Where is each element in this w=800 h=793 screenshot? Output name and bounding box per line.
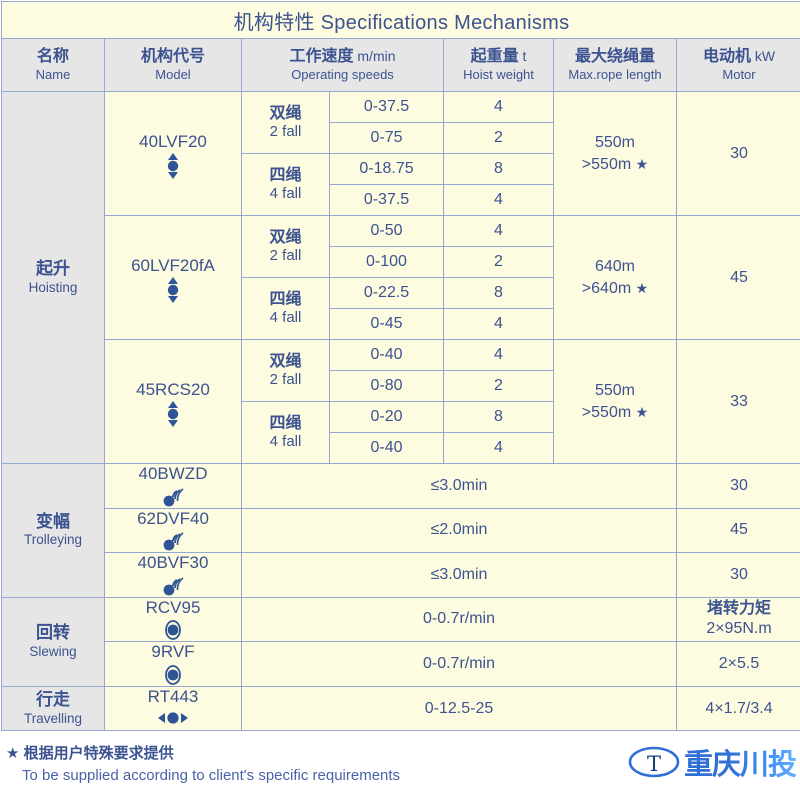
rope-length-cell: 550m>550m ★ [554, 340, 677, 464]
speed-cell: 0-80 [330, 371, 444, 402]
col-header-max-rope-length: 最大绕绳量Max.rope length [554, 39, 677, 92]
speed-cell: 0-40 [330, 433, 444, 464]
hoist-weight-cell: 8 [444, 402, 554, 433]
fall-label-en: 2 fall [242, 123, 329, 141]
section-name-travelling: 行走Travelling [2, 686, 105, 731]
fall-cell: 四绳4 fall [242, 402, 330, 464]
rope-length-value: 550m [595, 134, 635, 151]
section-name-trolleying: 变幅Trolleying [2, 464, 105, 598]
model-cell: RT443 [105, 686, 242, 731]
section-name-hoisting-en: Hoisting [2, 280, 104, 296]
motor-cell: 2×5.5 [677, 642, 800, 687]
hoist-weight-cell: 8 [444, 154, 554, 185]
company-logo: T 重庆川投 [628, 741, 796, 783]
table-row: 变幅Trolleying40BWZD≤3.0min30 [2, 464, 800, 509]
model-cell: 45RCS20 [105, 340, 242, 464]
page-title: 机构特性 Specifications Mechanisms [2, 2, 800, 39]
speed-cell: 0-75 [330, 123, 444, 154]
motor-cell: 30 [677, 92, 800, 216]
fall-cell: 四绳4 fall [242, 278, 330, 340]
table-row: 回转SlewingRCV950-0.7r/min堵转力矩2×95N.m [2, 597, 800, 642]
speed-cell: 0-22.5 [330, 278, 444, 309]
luffing-signal-icon [105, 486, 241, 508]
table-row: 62DVF40≤2.0min45 [2, 508, 800, 553]
value-cell: 0-12.5-25 [242, 686, 677, 731]
motor-cell: 45 [677, 508, 800, 553]
footnote-en: To be supplied according to client's spe… [6, 765, 400, 787]
section-name-hoisting-cn: 起升 [2, 259, 104, 279]
col-header-motor: 电动机 kWMotor [677, 39, 800, 92]
fall-label-en: 4 fall [242, 433, 329, 451]
rope-length-optional: >550m [582, 156, 631, 173]
rope-length-optional: >550m [582, 404, 631, 421]
specifications-sheet: 机构特性 Specifications Mechanisms名称Name机构代号… [0, 1, 800, 766]
table-mount: 机构特性 Specifications Mechanisms名称Name机构代号… [0, 1, 800, 731]
table-row: 40BVF30≤3.0min30 [2, 553, 800, 598]
model-cell: RCV95 [105, 597, 242, 642]
col-header-model: 机构代号Model [105, 39, 242, 92]
speed-cell: 0-100 [330, 247, 444, 278]
section-name-travelling-cn: 行走 [2, 690, 104, 710]
motor-cell: 30 [677, 464, 800, 509]
hoist-weight-cell: 4 [444, 185, 554, 216]
footnote-cn: ★ 根据用户特殊要求提供 [6, 743, 400, 765]
model-cell: 62DVF40 [105, 508, 242, 553]
fall-cell: 双绳2 fall [242, 216, 330, 278]
hoist-weight-cell: 4 [444, 340, 554, 371]
section-name-hoisting: 起升Hoisting [2, 92, 105, 464]
slew-rotation-icon [105, 664, 241, 686]
footnote: ★ 根据用户特殊要求提供 To be supplied according to… [6, 743, 400, 787]
motor-value: 2×5.5 [677, 654, 800, 675]
value-cell: 0-0.7r/min [242, 642, 677, 687]
table-row: 起升Hoisting40LVF20双绳2 fall0-37.54550m>550… [2, 92, 800, 123]
title-row: 机构特性 Specifications Mechanisms [2, 2, 800, 39]
motor-cell: 45 [677, 216, 800, 340]
rope-length-cell: 550m>550m ★ [554, 92, 677, 216]
model-label: 40LVF20 [105, 132, 241, 152]
model-label: 40BWZD [105, 464, 241, 484]
speed-cell: 0-37.5 [330, 185, 444, 216]
rope-length-value: 640m [595, 258, 635, 275]
model-label: RT443 [105, 687, 241, 707]
model-cell: 40BVF30 [105, 553, 242, 598]
fall-label-en: 4 fall [242, 309, 329, 327]
fall-cell: 四绳4 fall [242, 154, 330, 216]
model-cell: 40BWZD [105, 464, 242, 509]
hoist-weight-cell: 2 [444, 247, 554, 278]
footer: ★ 根据用户特殊要求提供 To be supplied according to… [0, 743, 800, 793]
specifications-table: 机构特性 Specifications Mechanisms名称Name机构代号… [1, 1, 800, 731]
slew-rotation-icon [105, 619, 241, 641]
star-icon: ★ [636, 156, 649, 172]
motor-cell: 33 [677, 340, 800, 464]
star-icon: ★ [636, 404, 649, 420]
fall-label-cn: 双绳 [242, 228, 329, 247]
hoist-weight-cell: 2 [444, 123, 554, 154]
section-name-slewing-en: Slewing [2, 644, 104, 660]
motor-cell: 4×1.7/3.4 [677, 686, 800, 731]
hoist-weight-cell: 4 [444, 92, 554, 123]
section-name-travelling-en: Travelling [2, 711, 104, 727]
svg-text:T: T [647, 752, 661, 776]
value-cell: ≤3.0min [242, 464, 677, 509]
rope-length-optional: >640m [582, 280, 631, 297]
hoist-updown-icon [105, 277, 241, 299]
model-cell: 9RVF [105, 642, 242, 687]
table-row: 9RVF0-0.7r/min2×5.5 [2, 642, 800, 687]
table-row: 60LVF20fA双绳2 fall0-504640m>640m ★45 [2, 216, 800, 247]
model-label: 45RCS20 [105, 380, 241, 400]
luffing-signal-icon [105, 575, 241, 597]
speed-cell: 0-37.5 [330, 92, 444, 123]
fall-cell: 双绳2 fall [242, 340, 330, 402]
col-header-hoist-weight: 起重量 tHoist weight [444, 39, 554, 92]
column-header-row: 名称Name机构代号Model工作速度 m/minOperating speed… [2, 39, 800, 92]
fall-label-en: 2 fall [242, 247, 329, 265]
table-row: 45RCS20双绳2 fall0-404550m>550m ★33 [2, 340, 800, 371]
model-cell: 40LVF20 [105, 92, 242, 216]
fall-label-cn: 四绳 [242, 290, 329, 309]
speed-cell: 0-18.75 [330, 154, 444, 185]
luffing-signal-icon [105, 530, 241, 552]
fall-label-en: 4 fall [242, 185, 329, 203]
fall-label-cn: 四绳 [242, 166, 329, 185]
section-name-slewing: 回转Slewing [2, 597, 105, 686]
section-name-trolleying-cn: 变幅 [2, 512, 104, 532]
value-cell: ≤3.0min [242, 553, 677, 598]
hoist-weight-cell: 4 [444, 433, 554, 464]
hoist-weight-cell: 4 [444, 216, 554, 247]
hoist-weight-cell: 2 [444, 371, 554, 402]
motor-value: 2×95N.m [677, 619, 800, 640]
value-cell: ≤2.0min [242, 508, 677, 553]
fall-cell: 双绳2 fall [242, 92, 330, 154]
speed-cell: 0-40 [330, 340, 444, 371]
star-icon: ★ [636, 280, 649, 296]
logo-t-mark-icon: T [628, 745, 680, 779]
fall-label-cn: 双绳 [242, 352, 329, 371]
col-header-name: 名称Name [2, 39, 105, 92]
model-label: 62DVF40 [105, 509, 241, 529]
model-cell: 60LVF20fA [105, 216, 242, 340]
rope-length-cell: 640m>640m ★ [554, 216, 677, 340]
model-label: RCV95 [105, 598, 241, 618]
hoist-updown-icon [105, 401, 241, 423]
rope-length-value: 550m [595, 382, 635, 399]
motor-cell: 堵转力矩2×95N.m [677, 597, 800, 642]
motor-cell: 30 [677, 553, 800, 598]
motor-label-cn: 堵转力矩 [677, 599, 800, 620]
model-label: 9RVF [105, 642, 241, 662]
speed-cell: 0-45 [330, 309, 444, 340]
hoist-weight-cell: 8 [444, 278, 554, 309]
travel-leftright-icon [105, 708, 241, 730]
hoist-updown-icon [105, 153, 241, 175]
section-name-slewing-cn: 回转 [2, 623, 104, 643]
model-label: 60LVF20fA [105, 256, 241, 276]
speed-cell: 0-50 [330, 216, 444, 247]
footnote-star-icon: ★ [6, 745, 19, 762]
fall-label-cn: 双绳 [242, 104, 329, 123]
hoist-weight-cell: 4 [444, 309, 554, 340]
col-header-operating-speeds: 工作速度 m/minOperating speeds [242, 39, 444, 92]
model-label: 40BVF30 [105, 553, 241, 573]
value-cell: 0-0.7r/min [242, 597, 677, 642]
fall-label-en: 2 fall [242, 371, 329, 389]
fall-label-cn: 四绳 [242, 414, 329, 433]
speed-cell: 0-20 [330, 402, 444, 433]
table-row: 行走TravellingRT4430-12.5-254×1.7/3.4 [2, 686, 800, 731]
section-name-trolleying-en: Trolleying [2, 532, 104, 548]
logo-text: 重庆川投 [684, 741, 796, 783]
